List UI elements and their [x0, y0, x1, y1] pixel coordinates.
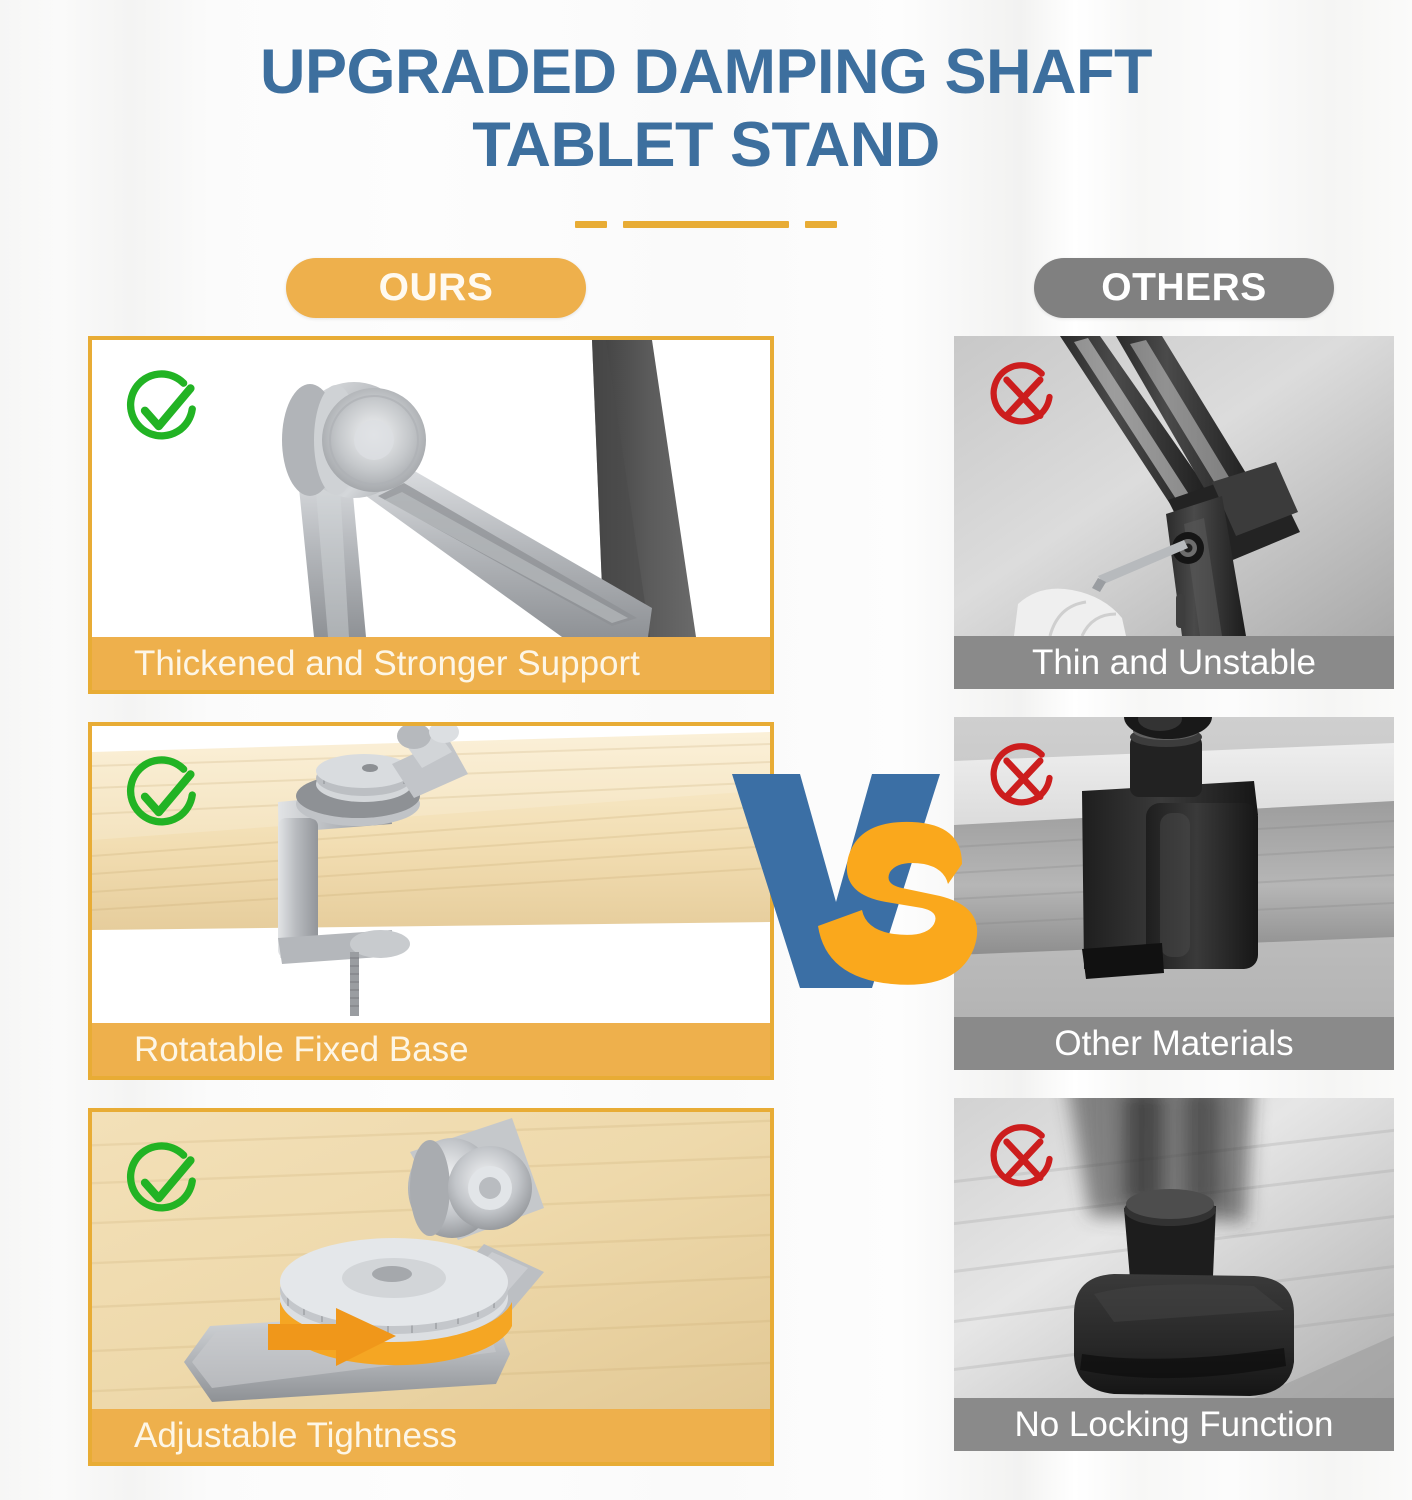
ours-card-3-caption: Adjustable Tightness [92, 1409, 770, 1462]
others-card-1-caption-text: Thin and Unstable [1032, 643, 1316, 683]
ours-card-1-photo [92, 340, 770, 637]
others-badge: OTHERS [1034, 258, 1334, 318]
ours-card-3-caption-text: Adjustable Tightness [134, 1416, 457, 1456]
others-badge-label: OTHERS [1101, 266, 1267, 310]
ours-card-3: Adjustable Tightness [88, 1108, 774, 1466]
divider-dash-left [575, 221, 607, 228]
others-card-1-photo [954, 336, 1394, 636]
others-column: Thin and Unstable [954, 336, 1394, 1479]
cross-circle-icon [984, 1120, 1062, 1198]
others-card-1-caption: Thin and Unstable [954, 636, 1394, 689]
divider-dash-right [805, 221, 837, 228]
divider-dash-center [623, 221, 789, 228]
page-title-line-1: UPGRADED DAMPING SHAFT [0, 36, 1412, 109]
ours-column: Thickened and Stronger Support [88, 336, 774, 1494]
others-card-2-caption-text: Other Materials [1054, 1024, 1293, 1064]
page-title: UPGRADED DAMPING SHAFT TABLET STAND [0, 36, 1412, 182]
others-card-3-caption-text: No Locking Function [1014, 1405, 1333, 1445]
ours-card-2: Rotatable Fixed Base [88, 722, 774, 1080]
ours-card-2-caption: Rotatable Fixed Base [92, 1023, 770, 1076]
ours-card-3-photo [92, 1112, 770, 1409]
cross-circle-icon [984, 358, 1062, 436]
others-card-3-photo [954, 1098, 1394, 1398]
comparison-infographic: UPGRADED DAMPING SHAFT TABLET STAND OURS… [0, 0, 1412, 1500]
check-circle-icon [120, 1138, 206, 1224]
ours-card-1: Thickened and Stronger Support [88, 336, 774, 694]
cross-circle-icon [984, 739, 1062, 817]
others-card-2: Other Materials [954, 717, 1394, 1070]
others-card-3: No Locking Function [954, 1098, 1394, 1451]
ours-badge: OURS [286, 258, 586, 318]
ours-card-1-caption-text: Thickened and Stronger Support [134, 644, 640, 684]
ours-card-1-caption: Thickened and Stronger Support [92, 637, 770, 690]
others-card-2-photo [954, 717, 1394, 1017]
check-circle-icon [120, 366, 206, 452]
ours-card-2-photo [92, 726, 770, 1023]
ours-card-2-caption-text: Rotatable Fixed Base [134, 1030, 469, 1070]
others-card-3-caption: No Locking Function [954, 1398, 1394, 1451]
others-card-1: Thin and Unstable [954, 336, 1394, 689]
others-card-2-caption: Other Materials [954, 1017, 1394, 1070]
title-divider [0, 221, 1412, 228]
page-title-line-2: TABLET STAND [0, 109, 1412, 182]
ours-badge-label: OURS [379, 266, 494, 310]
check-circle-icon [120, 752, 206, 838]
